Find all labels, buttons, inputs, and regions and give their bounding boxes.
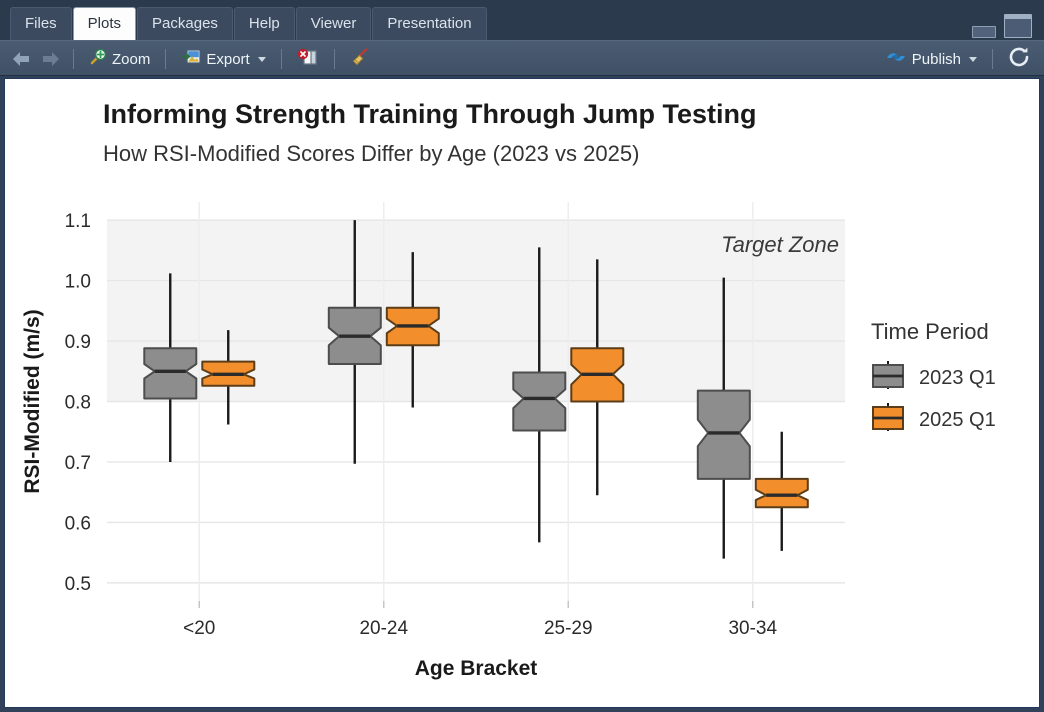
toolbar-separator — [281, 49, 282, 69]
back-arrow-icon[interactable] — [8, 46, 34, 72]
tab-packages[interactable]: Packages — [137, 7, 233, 40]
plots-toolbar: Zoom Export — [0, 40, 1044, 76]
x-axis-label: Age Bracket — [415, 657, 538, 680]
y-axis-ticks: 0.50.60.70.80.91.01.1 — [65, 211, 91, 595]
zoom-button[interactable]: Zoom — [83, 45, 156, 73]
legend-item[interactable]: 2025 Q1 — [873, 403, 996, 431]
legend: Time Period2023 Q12025 Q1 — [871, 319, 996, 431]
x-tick-label: <20 — [183, 618, 215, 639]
tab-label: Files — [25, 15, 57, 32]
tab-label: Packages — [152, 15, 218, 32]
y-tick-label: 0.5 — [65, 574, 91, 595]
minimize-icon[interactable] — [972, 26, 996, 38]
y-tick-label: 0.7 — [65, 453, 91, 474]
x-tick-label: 20-24 — [359, 618, 408, 639]
tab-files[interactable]: Files — [10, 7, 72, 40]
y-tick-label: 0.8 — [65, 393, 91, 414]
box-body — [513, 373, 565, 431]
tab-label: Plots — [88, 15, 121, 32]
clear-all-plots-button[interactable] — [344, 45, 376, 73]
remove-plot-icon — [297, 48, 319, 70]
chart-title: Informing Strength Training Through Jump… — [103, 99, 756, 129]
maximize-icon[interactable] — [1004, 14, 1032, 38]
export-image-icon — [181, 48, 201, 70]
refresh-icon — [1008, 46, 1032, 72]
box-body — [756, 479, 808, 507]
export-button[interactable]: Export — [175, 45, 271, 73]
export-label: Export — [206, 51, 249, 68]
refresh-button[interactable] — [1002, 45, 1038, 73]
y-tick-label: 0.9 — [65, 332, 91, 353]
x-tick-label: 30-34 — [728, 618, 777, 639]
rstudio-plots-window: FilesPlotsPackagesHelpViewerPresentation — [0, 0, 1044, 712]
toolbar-separator — [73, 49, 74, 69]
forward-arrow-icon[interactable] — [38, 46, 64, 72]
y-tick-label: 0.6 — [65, 513, 91, 534]
chart-subtitle: How RSI-Modified Scores Differ by Age (2… — [103, 141, 639, 166]
chevron-down-icon[interactable] — [258, 57, 266, 62]
publish-label: Publish — [912, 51, 961, 68]
legend-label: 2025 Q1 — [919, 409, 996, 431]
toolbar-separator — [992, 49, 993, 69]
y-tick-label: 1.1 — [65, 211, 91, 232]
tab-label: Viewer — [311, 15, 357, 32]
toolbar-separator — [334, 49, 335, 69]
tab-presentation[interactable]: Presentation — [372, 7, 486, 40]
broom-clear-all-icon — [350, 48, 370, 70]
zoom-label: Zoom — [112, 51, 150, 68]
tab-label: Presentation — [387, 15, 471, 32]
plot-canvas[interactable]: Informing Strength Training Through Jump… — [4, 78, 1040, 708]
y-axis-label: RSI-Modified (m/s) — [21, 309, 44, 493]
x-axis-ticks: <2020-2425-2930-34 — [183, 601, 777, 639]
x-tick-label: 25-29 — [544, 618, 593, 639]
tab-label: Help — [249, 15, 280, 32]
chevron-down-icon[interactable] — [969, 57, 977, 62]
box-body — [698, 391, 750, 479]
pane-tabstrip: FilesPlotsPackagesHelpViewerPresentation — [0, 0, 1044, 40]
toolbar-left-group: Zoom Export — [8, 41, 376, 77]
window-controls — [972, 14, 1032, 38]
legend-title: Time Period — [871, 319, 989, 344]
publish-button[interactable]: Publish — [879, 45, 983, 73]
tab-list: FilesPlotsPackagesHelpViewerPresentation — [10, 6, 488, 40]
toolbar-right-group: Publish — [879, 41, 1038, 77]
toolbar-separator — [165, 49, 166, 69]
tab-plots[interactable]: Plots — [73, 7, 136, 40]
tab-help[interactable]: Help — [234, 7, 295, 40]
remove-plot-button[interactable] — [291, 45, 325, 73]
publish-icon — [885, 48, 907, 70]
legend-item[interactable]: 2023 Q1 — [873, 361, 996, 389]
target-zone-annotation: Target Zone — [721, 232, 839, 257]
magnifier-plus-icon — [89, 48, 107, 70]
box-body — [144, 348, 196, 398]
legend-label: 2023 Q1 — [919, 367, 996, 389]
tab-viewer[interactable]: Viewer — [296, 7, 372, 40]
y-tick-label: 1.0 — [65, 272, 91, 293]
boxplot-figure: Informing Strength Training Through Jump… — [5, 79, 1039, 707]
